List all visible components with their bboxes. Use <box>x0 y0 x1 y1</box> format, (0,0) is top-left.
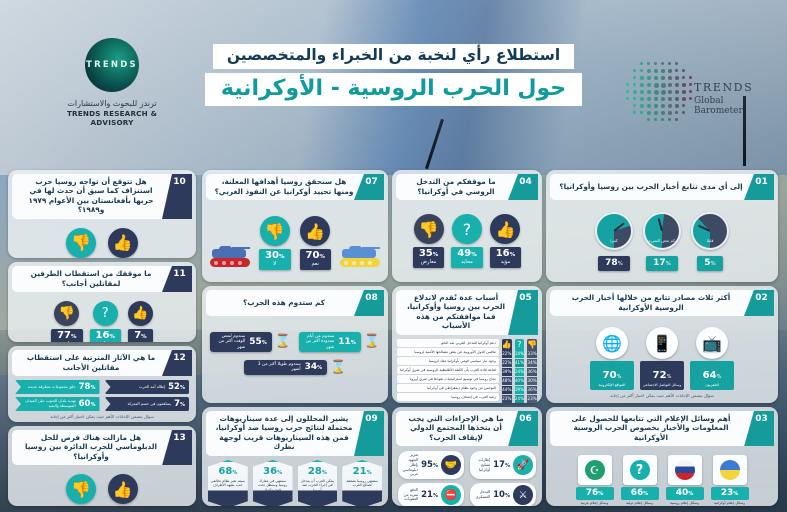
sanctions-icon: ⛔ <box>441 485 461 505</box>
card-06-label-3: الدفع بمزيد من العقوبات <box>401 488 418 502</box>
card-11-value-1: 7%مؤيد <box>128 329 153 342</box>
card-10-stat-2: 👎 55%لا <box>66 228 97 258</box>
card-05-cell: 19% <box>515 386 524 394</box>
ukraine-flag-icon <box>713 455 747 485</box>
card-02-header: أكثر ثلاث مصادر تتابع من خلالها أخبار ال… <box>550 290 774 316</box>
card-08-value-1: 55% <box>249 337 267 347</box>
card-11-header: ما موقفك من استقطاب الطرفين لمقاتلين أجا… <box>12 266 192 292</box>
card-06-label-4: التدخل العسكري <box>473 490 490 499</box>
card-08-stat-1: ⌛ 55% ستدوم لبعض الوقت أكثر من شهر <box>210 332 291 352</box>
card-05-row-label: التوجس من وجود نظام ديمقراطي في أوكرانيا <box>397 384 499 392</box>
card-11-stat-1: 👍 7%مؤيد <box>128 301 153 342</box>
card-07-header: هل ستحقق روسيا أهدافها المعلنة، ومنها تح… <box>206 174 384 200</box>
title-line-1: استطلاع رأي لنخبة من الخبراء والمتخصصين <box>213 44 574 69</box>
card-05-cell: 39% <box>502 368 512 376</box>
card-13-header: هل مازالت هناك فرص للحل الدبلوماسي للحرب… <box>12 430 192 465</box>
card-12-stat-3: 60% تهديد بلدان الجنوب على الميدان المتو… <box>15 397 100 411</box>
hourglass-icon: ⌛ <box>330 360 346 375</box>
card-05-row-label: وجود تيار سياسي قومي بأوكرانيا معاد لروس… <box>397 357 499 365</box>
card-04-stat-1: 👍 16%مؤيد <box>490 214 521 268</box>
hourglass-icon: ⌛ <box>364 334 380 349</box>
card-02-value-2: 72% وسائل التواصل الاجتماعي <box>640 361 684 390</box>
card-05-cell: 23% <box>502 395 512 403</box>
card-05-col-0: 👎 33%34%36%30%36%23%15% <box>527 339 537 403</box>
question-icon: ? <box>623 455 657 485</box>
card-08-header: كم ستدوم هذه الحرب؟ 08 <box>206 290 384 316</box>
card-09-number: 09 <box>354 411 384 456</box>
card-12-items: 52% إطالة أمد الحرب 78% خلق مجموعات متطر… <box>15 380 189 411</box>
card-03-stat-3: ? 66% وسائل إعلام دولية <box>621 455 659 505</box>
card-08[interactable]: كم ستدوم هذه الحرب؟ 08 ⌛ 11% ستدوم من أي… <box>202 286 388 403</box>
card-05[interactable]: أسباب عدة تُقدم لاندلاع الحرب بين روسيا … <box>392 286 542 403</box>
card-11-stat-2: ? 16%محايد <box>90 301 121 342</box>
thumbs-up-icon: 👍 <box>300 216 330 246</box>
tv-icon: 📺 <box>696 327 728 359</box>
card-09-label-3: ستنتهي في معارك روسيا وستظل تحت قوة وتكت… <box>255 479 291 492</box>
card-11-question: ما موقفك من استقطاب الطرفين لمقاتلين أجا… <box>20 269 162 288</box>
card-09-value-3: 36% <box>255 466 291 477</box>
card-05-header: أسباب عدة تُقدم لاندلاع الحرب بين روسيا … <box>396 290 538 335</box>
card-09-stat-3: 36% ستنتهي في معارك روسيا وستظل تحت قوة … <box>253 460 293 506</box>
thumbs-up-icon: 👍 <box>502 339 512 350</box>
thumbs-down-icon: 👎 <box>66 228 96 258</box>
card-05-col-1: ? 14%41%24%40%19%24%9% <box>515 339 524 403</box>
card-05-cell: 33% <box>527 350 537 358</box>
card-06-label-1: تعزيز الجهود بإطار دبلوماسي غربي <box>401 453 418 477</box>
card-08-value-2: 11% <box>338 337 356 347</box>
card-05-cell: 36% <box>527 386 537 394</box>
thumbs-down-icon: 👎 <box>66 474 96 504</box>
card-12-header: ما هي الآثار المترتبة على استقطاب مقاتلي… <box>12 350 192 376</box>
card-11[interactable]: ما موقفك من استقطاب الطرفين لمقاتلين أجا… <box>8 262 196 342</box>
question-icon: ? <box>452 214 482 244</box>
card-02-stat-2: 📱 72% وسائل التواصل الاجتماعي <box>640 327 684 390</box>
card-01-value-1: 5% <box>697 256 723 271</box>
card-02-value-3: 70% المواقع الإلكترونية <box>590 361 634 390</box>
card-13[interactable]: هل مازالت هناك فرص للحل الدبلوماسي للحرب… <box>8 426 196 506</box>
card-03-header: أهم وسائل الإعلام التي تتابعها للحصول عل… <box>550 411 774 446</box>
card-12-label-3: تهديد بلدان الجنوب على الميدان المتوسطة … <box>19 399 76 408</box>
thumbs-down-icon: 👎 <box>260 216 290 246</box>
card-01-value-2: 17% <box>646 256 678 271</box>
card-06-number: 06 <box>508 411 538 446</box>
card-09-header: يشير المحللون إلى عدة سيناريوهات محتملة … <box>206 411 384 456</box>
card-05-row-label: قناعة قادة الغرب بأن الكتلة الأطلنطية ال… <box>397 366 499 374</box>
card-03-label-2: وسائل إعلام روسية <box>666 501 704 505</box>
card-02-stat-1: 📺 64% التلفزيون <box>690 327 734 390</box>
thumbs-up-icon: 👍 <box>490 214 520 244</box>
card-05-table: 👎 33%34%36%30%36%23%15% ? 14%41%24%40%19… <box>397 339 537 403</box>
card-13-stat-2: 👎 15%لا <box>66 474 97 506</box>
card-01-number: 01 <box>744 174 774 200</box>
card-09-label-2: يمكن الغرب أن يتدخل في إجراء الحرب ضد أو… <box>300 479 336 492</box>
gauge-icon: كثيرا <box>595 212 633 250</box>
handshake-icon: 🤝 <box>441 455 461 475</box>
card-06-header: ما هي الإجراءات التي يجب أن يتخذها المجت… <box>396 411 538 446</box>
arabic-media-icon: ☪ <box>578 455 612 485</box>
card-12-value-4: 7% <box>174 399 185 409</box>
card-05-cell: 36% <box>527 368 537 376</box>
missile-icon: 🚀 <box>513 455 533 475</box>
card-06-value-1: 95% <box>421 460 438 470</box>
thumbs-up-icon: 👍 <box>108 474 138 504</box>
infographic-page: TRENDS ترندز للبحوث والاستشارات TRENDS R… <box>0 0 787 512</box>
gauge-label: كثيرا <box>610 238 618 243</box>
card-11-value-2: 16%محايد <box>90 329 121 342</box>
card-07-stat-1: 👍 70%نعم <box>300 216 331 270</box>
trends-logo-english: TRENDS RESEARCH & ADVISORY <box>52 109 172 127</box>
card-01-value-3: 78% <box>598 256 630 271</box>
card-07-number: 07 <box>354 174 384 200</box>
card-13-stat-1: 👍 85%نعم <box>107 474 138 506</box>
card-04-stat-2: ? 49%محايد <box>451 214 482 268</box>
card-05-col-2: 👍 22%22%39%48%44%23%36% <box>502 339 512 403</box>
thumbs-down-icon: 👎 <box>414 214 444 244</box>
card-04-number: 04 <box>508 174 538 200</box>
card-05-row-label: تنافس الدول الأوروبية عن بعض مصالحها الأ… <box>397 348 499 356</box>
card-01-stat-2: كم بعض الشيء 17% <box>643 212 681 271</box>
card-04-value-2: 49%محايد <box>451 247 482 268</box>
card-05-cell: 14% <box>515 350 524 358</box>
card-03-question: أهم وسائل الإعلام التي تتابعها للحصول عل… <box>558 414 744 442</box>
card-05-cell: 30% <box>527 377 537 385</box>
question-icon: ? <box>93 301 118 326</box>
card-07-value-1: 70%نعم <box>300 249 331 270</box>
card-02-number: 02 <box>744 290 774 316</box>
card-05-cell: 24% <box>515 368 524 376</box>
card-05-cell: 23% <box>527 395 537 403</box>
card-02-question: أكثر ثلاث مصادر تتابع من خلالها أخبار ال… <box>558 293 744 312</box>
card-01-stat-1: قليلا 5% <box>691 212 729 271</box>
card-12-label-4: يساهمون في حسم المعركة <box>109 402 172 407</box>
gauge-label: قليلا <box>707 238 714 243</box>
russia-flag-icon <box>668 455 702 485</box>
card-12[interactable]: ما هي الآثار المترتبة على استقطاب مقاتلي… <box>8 346 196 422</box>
card-12-value-1: 78% <box>79 382 96 392</box>
card-05-cell: 40% <box>515 377 524 385</box>
card-06[interactable]: ما هي الإجراءات التي يجب أن يتخذها المجت… <box>392 407 542 506</box>
card-08-value-3: 34% <box>305 362 323 372</box>
card-06-stat-3: ⛔ 21% الدفع بمزيد من العقوبات <box>398 483 464 506</box>
card-10-number: 10 <box>162 174 192 219</box>
card-03-value-3: 66% <box>621 487 659 500</box>
card-08-label-2: ستدوم من أيام معدودة أكثر من شهر <box>304 334 334 350</box>
card-05-row-label: رغبة الغرب في إضعاف روسيا <box>397 393 499 401</box>
card-10[interactable]: هل تتوقع أن تواجه روسيا حرب استنزاف كما … <box>8 170 196 258</box>
title-line-2: حول الحرب الروسية - الأوكرانية <box>205 73 582 106</box>
card-09[interactable]: يشير المحللون إلى عدة سيناريوهات محتملة … <box>202 407 388 506</box>
russia-tank-icon <box>210 246 250 270</box>
card-10-question: هل تتوقع أن تواجه روسيا حرب استنزاف كما … <box>20 177 162 215</box>
card-03-value-4: 76% <box>576 487 614 500</box>
card-05-cell: 24% <box>515 395 524 403</box>
card-04[interactable]: ما موقفكم من التدخل الروسي في أوكرانيا؟ … <box>392 170 542 282</box>
card-09-value-2: 28% <box>300 466 336 477</box>
card-06-value-4: 10% <box>493 490 510 500</box>
thumbs-down-icon: 👎 <box>54 301 79 326</box>
card-02[interactable]: أكثر ثلاث مصادر تتابع من خلالها أخبار ال… <box>546 286 778 403</box>
card-04-stat-3: 👎 35%معارض <box>413 214 444 268</box>
gauge-label: كم بعض الشيء <box>649 238 675 243</box>
military-icon: ⚔ <box>513 485 533 505</box>
card-03-stat-1: 23% وسائل إعلام أوكرانية <box>711 455 749 505</box>
card-09-question: يشير المحللون إلى عدة سيناريوهات محتملة … <box>214 414 354 452</box>
card-12-stat-2: 52% إطالة أمد الحرب <box>105 380 190 394</box>
social-media-icon: 📱 <box>646 327 678 359</box>
card-03-label-3: وسائل إعلام دولية <box>621 501 659 505</box>
card-06-items: 🚀 17% إطارات تسليح أوكرانيا 🤝 95% تعزيز … <box>398 451 536 506</box>
thumbs-up-icon: 👍 <box>128 301 153 326</box>
card-10-stat-1: 👍 45%نعم <box>107 228 138 258</box>
card-08-label-3: ستدوم طويلا أكثر من 3 أشهر <box>249 362 301 373</box>
card-12-number: 12 <box>162 350 192 376</box>
card-05-cell: 22% <box>502 350 512 358</box>
card-07-value-2: 30%لا <box>259 249 290 270</box>
card-12-stat-1: 78% خلق مجموعات متطرفة جديدة <box>15 380 100 394</box>
card-11-stat-3: 👎 77%معارض <box>51 301 82 342</box>
ukraine-tank-icon <box>340 246 380 270</box>
card-09-items: 21% ستنتهي روسيا بصفقة لصالح الغرب 28% ي… <box>208 460 382 506</box>
card-08-label-1: ستدوم لبعض الوقت أكثر من شهر <box>215 334 245 350</box>
card-07[interactable]: هل ستحقق روسيا أهدافها المعلنة، ومنها تح… <box>202 170 388 282</box>
card-10-header: هل تتوقع أن تواجه روسيا حرب استنزاف كما … <box>12 174 192 219</box>
card-03-stat-2: 40% وسائل إعلام روسية <box>666 455 704 505</box>
card-05-row-label: دعم أوكرانيا للتدخل الغربي ضد الناتو <box>397 339 499 347</box>
gauge-icon: كم بعض الشيء <box>643 212 681 250</box>
globe-icon: 🌐 <box>596 327 628 359</box>
card-04-header: ما موقفكم من التدخل الروسي في أوكرانيا؟ … <box>396 174 538 200</box>
card-02-stat-3: 🌐 70% المواقع الإلكترونية <box>590 327 634 390</box>
card-08-stat-2: ⌛ 11% ستدوم من أيام معدودة أكثر من شهر <box>299 332 380 352</box>
card-12-stat-4: 7% يساهمون في حسم المعركة <box>105 397 190 411</box>
card-12-question: ما هي الآثار المترتبة على استقطاب مقاتلي… <box>20 353 162 372</box>
card-01-question: إلى أي مدى تتابع أخبار الحرب بين روسيا و… <box>559 182 742 191</box>
card-13-number: 13 <box>162 430 192 465</box>
card-12-label-2: إطالة أمد الحرب <box>109 385 166 390</box>
card-06-question: ما هي الإجراءات التي يجب أن يتخذها المجت… <box>404 414 508 442</box>
card-09-label-1: ستنتهي روسيا بصفقة لصالح الغرب <box>344 479 380 488</box>
card-06-value-3: 21% <box>421 490 438 500</box>
card-06-label-2: إطارات تسليح أوكرانيا <box>473 458 490 472</box>
cards-grid: إلى أي مدى تتابع أخبار الحرب بين روسيا و… <box>6 168 781 508</box>
card-06-stat-2: 🚀 17% إطارات تسليح أوكرانيا <box>470 451 536 479</box>
card-03-label-4: وسائل إعلام عربية <box>576 501 614 505</box>
card-08-stat-3: ⌛ 34% ستدوم طويلا أكثر من 3 أشهر <box>244 360 347 375</box>
card-12-source-note: سؤال يتضمن الإجابات الأهم حيث يمكن اختيا… <box>15 414 189 419</box>
card-07-stat-2: 👎 30%لا <box>259 216 290 270</box>
card-07-question: هل ستحقق روسيا أهدافها المعلنة، ومنها تح… <box>214 177 354 196</box>
card-12-label-1: خلق مجموعات متطرفة جديدة <box>19 385 76 390</box>
card-05-row-labels: دعم أوكرانيا للتدخل الغربي ضد الناتوتناف… <box>397 339 499 402</box>
card-03[interactable]: أهم وسائل الإعلام التي تتابعها للحصول عل… <box>546 407 778 506</box>
card-03-label-1: وسائل إعلام أوكرانية <box>711 501 749 505</box>
card-11-value-3: 77%معارض <box>51 329 82 342</box>
gauge-icon: قليلا <box>691 212 729 250</box>
card-09-stat-1: 21% ستنتهي روسيا بصفقة لصالح الغرب <box>342 460 382 506</box>
card-09-value-1: 21% <box>344 466 380 477</box>
thumbs-up-icon: 👍 <box>108 228 138 258</box>
card-05-question: أسباب عدة تُقدم لاندلاع الحرب بين روسيا … <box>404 293 508 331</box>
card-09-value-4: 68% <box>210 466 246 477</box>
card-03-number: 03 <box>744 411 774 446</box>
card-06-stat-1: 🤝 95% تعزيز الجهود بإطار دبلوماسي غربي <box>398 451 464 479</box>
question-icon: ? <box>515 339 524 350</box>
card-06-stat-4: ⚔ 10% التدخل العسكري <box>470 483 536 506</box>
card-04-value-3: 35%معارض <box>413 247 444 268</box>
card-02-value-1: 64% التلفزيون <box>690 361 734 390</box>
page-title: استطلاع رأي لنخبة من الخبراء والمتخصصين … <box>0 44 787 106</box>
flag-pole-left <box>425 119 444 169</box>
card-05-cell: 48% <box>502 377 512 385</box>
card-05-cell: 34% <box>527 359 537 367</box>
card-06-value-2: 17% <box>493 460 510 470</box>
card-09-stat-4: 68% سيتم تغير نظام تحالفي جديد يشهد الأط… <box>208 460 248 506</box>
thumbs-down-icon: 👎 <box>527 339 537 350</box>
card-12-value-3: 60% <box>79 399 96 409</box>
card-08-question: كم ستدوم هذه الحرب؟ <box>243 298 325 307</box>
card-05-row-label: نجاح روسيا في توسيع استراتيجيات نفوذها ف… <box>397 375 499 383</box>
card-09-stat-2: 28% يمكن الغرب أن يتدخل في إجراء الحرب ض… <box>298 460 338 506</box>
card-05-cell: 41% <box>515 359 524 367</box>
card-11-number: 11 <box>162 266 192 292</box>
card-03-stat-4: ☪ 76% وسائل إعلام عربية <box>576 455 614 505</box>
card-13-question: هل مازالت هناك فرص للحل الدبلوماسي للحرب… <box>20 433 162 461</box>
card-02-source-note: سؤال يتضمن الإجابات الأهم حيث يمكن اختيا… <box>554 393 770 398</box>
card-01[interactable]: إلى أي مدى تتابع أخبار الحرب بين روسيا و… <box>546 170 778 282</box>
card-05-cell: 44% <box>502 386 512 394</box>
card-08-number: 08 <box>354 290 384 316</box>
card-01-stat-3: كثيرا 78% <box>595 212 633 271</box>
card-03-value-2: 40% <box>666 487 704 500</box>
card-03-value-1: 23% <box>711 487 749 500</box>
card-04-question: ما موقفكم من التدخل الروسي في أوكرانيا؟ <box>404 177 508 196</box>
card-01-header: إلى أي مدى تتابع أخبار الحرب بين روسيا و… <box>550 174 774 200</box>
card-09-label-4: سيتم تغير نظام تحالفي جديد يشهد الأطراف <box>210 479 246 488</box>
card-12-value-2: 52% <box>168 382 185 392</box>
card-05-number: 05 <box>508 290 538 335</box>
card-05-cell: 22% <box>502 359 512 367</box>
card-04-value-1: 16%مؤيد <box>490 247 521 268</box>
hourglass-icon: ⌛ <box>275 334 291 349</box>
